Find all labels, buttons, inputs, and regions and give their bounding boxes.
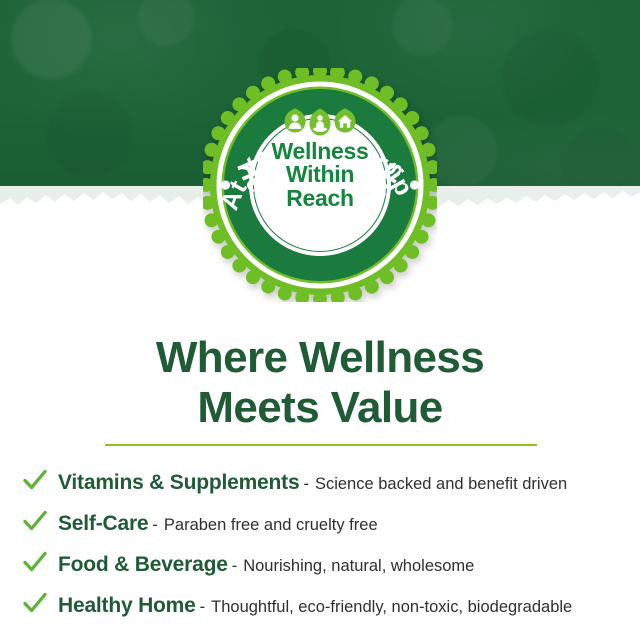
check-icon [22,508,48,534]
headline-line-2: Meets Value [0,383,640,433]
divider [105,444,537,446]
list-item: Vitamins & Supplements - Science backed … [22,463,630,504]
list-item: Self-Care - Paraben free and cruelty fre… [22,504,630,545]
list-item-description: Science backed and benefit driven [315,475,567,494]
list-item-description: Nourishing, natural, wholesome [243,557,474,576]
list-item-description: Thoughtful, eco-friendly, non-toxic, bio… [211,598,572,617]
list-item: Healthy Home - Thoughtful, eco-friendly,… [22,586,630,627]
benefits-list: Vitamins & Supplements - Science backed … [22,463,630,627]
list-item-description: Paraben free and cruelty free [164,516,378,535]
headline-line-1: Where Wellness [0,333,640,383]
badge-center-text: Wellness Within Reach [203,140,437,210]
list-item-dash: - [232,557,238,576]
check-icon [22,590,48,616]
meditation-leaf-icon [309,108,331,136]
badge-icon-group [203,108,437,136]
house-leaf-icon [334,108,356,133]
promo-banner: Healthier Options At Your Fingertips [0,0,640,640]
badge-center-line-3: Reach [203,187,437,210]
person-head-leaf-icon [284,108,306,133]
list-item-dash: - [200,598,206,617]
list-item-title: Food & Beverage [58,553,228,577]
check-icon [22,549,48,575]
list-item: Food & Beverage - Nourishing, natural, w… [22,545,630,586]
check-icon [22,467,48,493]
list-item-dash: - [152,516,158,535]
list-item-title: Self-Care [58,512,148,536]
badge-center-line-1: Wellness [203,140,437,163]
badge-center-line-2: Within [203,163,437,186]
list-item-title: Healthy Home [58,594,196,618]
list-item-dash: - [303,475,309,494]
list-item-title: Vitamins & Supplements [58,471,299,495]
wellness-badge: Healthier Options At Your Fingertips [203,68,437,302]
page-title: Where Wellness Meets Value [0,333,640,432]
